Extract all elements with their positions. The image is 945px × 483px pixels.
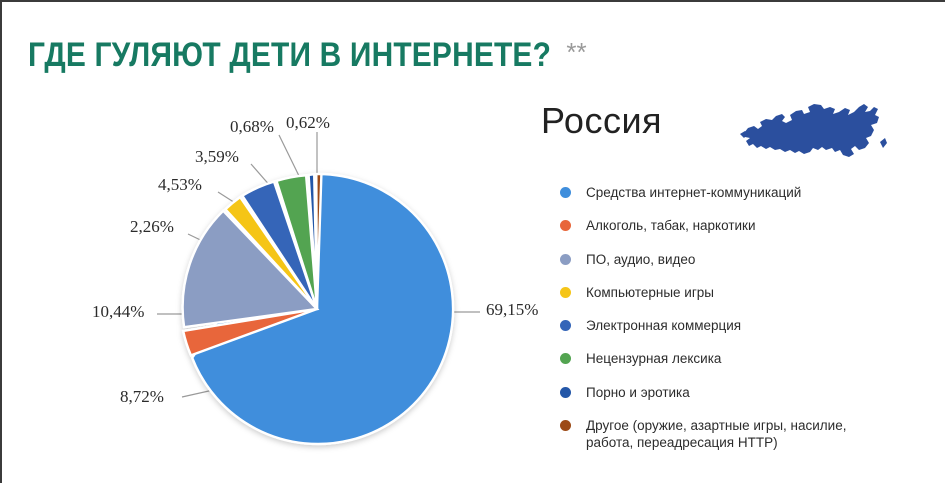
page-title-group: ГДЕ ГУЛЯЮТ ДЕТИ В ИНТЕРНЕТЕ? **	[28, 38, 587, 72]
legend-item-3[interactable]: Компьютерные игры	[560, 284, 940, 301]
pie-chart-area: 69,15% 8,72% 10,44% 2,26% 4,53% 3,59% 0,…	[2, 92, 522, 482]
legend-color-dot	[560, 387, 571, 398]
legend-item-2[interactable]: ПО, аудио, видео	[560, 251, 940, 268]
legend-item-5[interactable]: Нецензурная лексика	[560, 350, 940, 367]
title-footnote-asterisks: **	[566, 39, 586, 65]
legend-item-label: Другое (оружие, азартные игры, насилие, …	[586, 417, 846, 452]
legend-color-dot	[560, 220, 571, 231]
country-title: Россия	[541, 100, 662, 142]
legend-item-1[interactable]: Алкоголь, табак, наркотики	[560, 217, 940, 234]
pct-label-2-26: 2,26%	[130, 217, 174, 237]
chart-legend: Средства интернет-коммуникаций Алкоголь,…	[560, 184, 940, 467]
legend-item-label: Компьютерные игры	[586, 284, 714, 301]
right-panel: Россия Средства интернет-коммуникаций Ал…	[538, 98, 938, 448]
pct-label-0-68: 0,68%	[230, 117, 274, 137]
legend-color-dot	[560, 320, 571, 331]
legend-item-label: Электронная коммерция	[586, 317, 741, 334]
legend-color-dot	[560, 187, 571, 198]
legend-item-label: Нецензурная лексика	[586, 350, 721, 367]
legend-color-dot	[560, 254, 571, 265]
legend-item-label: ПО, аудио, видео	[586, 251, 695, 268]
page-title: ГДЕ ГУЛЯЮТ ДЕТИ В ИНТЕРНЕТЕ?	[28, 38, 551, 72]
pct-label-3-59: 3,59%	[195, 147, 239, 167]
legend-color-dot	[560, 353, 571, 364]
pie-slices	[183, 174, 453, 444]
legend-color-dot	[560, 287, 571, 298]
pct-label-8-72: 8,72%	[120, 387, 164, 407]
legend-item-label: Алкоголь, табак, наркотики	[586, 217, 756, 234]
legend-item-4[interactable]: Электронная коммерция	[560, 317, 940, 334]
legend-color-dot	[560, 420, 571, 431]
russia-map-icon	[738, 98, 888, 168]
pct-label-69-15: 69,15%	[486, 300, 538, 320]
pie-chart-svg	[2, 92, 522, 482]
pct-label-0-62: 0,62%	[286, 113, 330, 133]
pct-label-4-53: 4,53%	[158, 175, 202, 195]
legend-item-6[interactable]: Порно и эротика	[560, 384, 940, 401]
legend-item-label: Порно и эротика	[586, 384, 690, 401]
pct-label-10-44: 10,44%	[92, 302, 144, 322]
slide-root: ГДЕ ГУЛЯЮТ ДЕТИ В ИНТЕРНЕТЕ? **	[0, 0, 945, 483]
country-header: Россия	[538, 98, 938, 168]
legend-item-0[interactable]: Средства интернет-коммуникаций	[560, 184, 940, 201]
legend-item-label: Средства интернет-коммуникаций	[586, 184, 801, 201]
legend-item-7[interactable]: Другое (оружие, азартные игры, насилие, …	[560, 417, 940, 452]
